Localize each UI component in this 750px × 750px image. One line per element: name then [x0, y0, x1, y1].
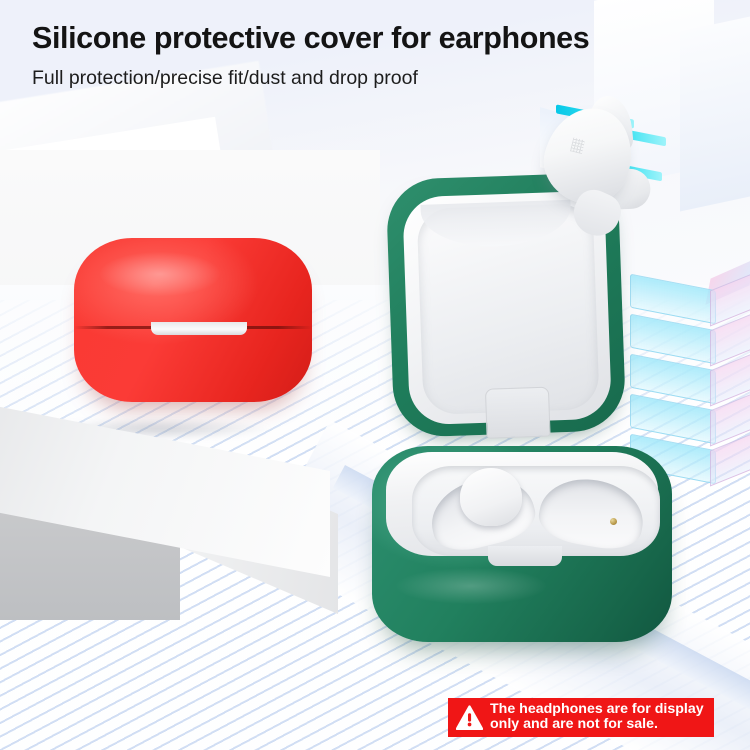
- header-block: Silicone protective cover for earphones …: [0, 0, 750, 89]
- red-silicone-case: [74, 238, 312, 402]
- product-image-stage: Silicone protective cover for earphones …: [0, 0, 750, 750]
- page-title: Silicone protective cover for earphones: [32, 22, 750, 56]
- green-silicone-case: [372, 176, 702, 666]
- disclaimer-text: The headphones are for display only and …: [490, 702, 704, 732]
- earbud-in-case: [460, 468, 522, 526]
- page-subtitle: Full protection/precise fit/dust and dro…: [32, 68, 750, 89]
- green-case-base: [372, 446, 672, 642]
- earbud-well-right: [535, 471, 649, 554]
- earbud-cradle: [412, 466, 660, 556]
- warning-triangle-icon: [456, 705, 483, 730]
- disclaimer-banner: The headphones are for display only and …: [448, 698, 714, 737]
- green-base-highlight: [396, 568, 546, 604]
- green-lid-hinge-tab: [485, 387, 551, 439]
- earbud-mic-mesh-icon: [570, 138, 585, 154]
- charging-contact-pin: [610, 518, 617, 525]
- red-case-notch: [151, 322, 247, 335]
- red-case-highlight: [100, 252, 220, 296]
- green-base-rim: [386, 452, 658, 556]
- green-base-latch: [488, 546, 562, 566]
